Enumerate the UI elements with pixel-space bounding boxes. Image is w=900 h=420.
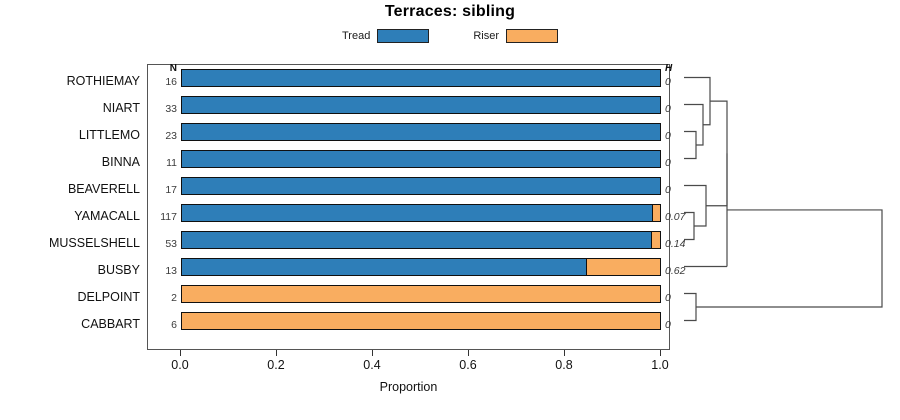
n-value: 23 — [148, 130, 177, 142]
row-label: ROTHIEMAY — [0, 74, 140, 88]
table-row: 330 — [148, 92, 669, 119]
n-value: 2 — [148, 292, 177, 304]
x-tick — [372, 350, 373, 356]
row-label: MUSSELSHELL — [0, 236, 140, 250]
bar-segment-riser — [586, 259, 660, 275]
stacked-bar — [181, 258, 661, 276]
dendrogram-svg — [670, 64, 900, 350]
stacked-bar — [181, 150, 661, 168]
x-tick-label: 0.4 — [347, 358, 397, 372]
dendro-join-delpoint-cabbart — [684, 294, 696, 321]
stacked-bar — [181, 69, 661, 87]
x-tick-label: 0.0 — [155, 358, 205, 372]
stacked-bar — [181, 231, 661, 249]
x-tick — [660, 350, 661, 356]
table-row: 170 — [148, 173, 669, 200]
bar-segment-riser — [651, 232, 660, 248]
chart-legend: Tread Riser — [0, 29, 900, 43]
table-row: 1170.07 — [148, 200, 669, 227]
dendro-join-yamacall-musselshell — [684, 213, 694, 240]
table-row: 130.62 — [148, 254, 669, 281]
row-label: LITTLEMO — [0, 128, 140, 142]
table-row: 60 — [148, 308, 669, 335]
plot-panel: N H 1603302301101701170.07530.14130.6220… — [147, 64, 670, 350]
x-axis-label: Proportion — [147, 380, 670, 394]
n-value: 117 — [148, 211, 177, 223]
legend-swatch-tread — [377, 29, 429, 43]
table-row: 110 — [148, 146, 669, 173]
dendro-join-upper-clusters — [706, 101, 727, 206]
table-row: 230 — [148, 119, 669, 146]
bar-segment-tread — [182, 178, 660, 194]
x-tick — [180, 350, 181, 356]
bar-segment-tread — [182, 205, 652, 221]
stacked-bar — [181, 204, 661, 222]
bar-segment-tread — [182, 124, 660, 140]
bar-segment-tread — [182, 151, 660, 167]
dendrogram-links — [684, 78, 882, 321]
stacked-bar — [181, 96, 661, 114]
stacked-bar — [181, 312, 661, 330]
x-tick — [564, 350, 565, 356]
chart-title: Terraces: sibling — [0, 3, 900, 21]
bar-segment-riser — [182, 313, 660, 329]
legend-swatch-riser — [506, 29, 558, 43]
dendro-join-rothiemay-cluster — [684, 78, 710, 125]
row-label: BINNA — [0, 155, 140, 169]
n-value: 13 — [148, 265, 177, 277]
n-value: 17 — [148, 184, 177, 196]
x-tick — [468, 350, 469, 356]
n-value: 16 — [148, 76, 177, 88]
row-label: YAMACALL — [0, 209, 140, 223]
dendro-join-niart-cluster — [684, 105, 703, 146]
legend-label-riser: Riser — [473, 30, 499, 42]
x-tick-label: 0.8 — [539, 358, 589, 372]
dendro-join-littlemo-binna — [684, 132, 696, 159]
n-value: 11 — [148, 157, 177, 169]
legend-item-tread: Tread — [342, 29, 429, 43]
row-label: DELPOINT — [0, 290, 140, 304]
bar-segment-tread — [182, 259, 586, 275]
n-value: 53 — [148, 238, 177, 250]
stacked-bar — [181, 285, 661, 303]
bar-segment-tread — [182, 232, 651, 248]
row-label: BUSBY — [0, 263, 140, 277]
bar-segment-tread — [182, 70, 660, 86]
x-tick-label: 0.6 — [443, 358, 493, 372]
chart-root: Terraces: sibling Tread Riser ROTHIEMAYN… — [0, 0, 900, 420]
x-tick — [276, 350, 277, 356]
bar-segment-riser — [182, 286, 660, 302]
table-row: 20 — [148, 281, 669, 308]
legend-label-tread: Tread — [342, 30, 370, 42]
stacked-bar — [181, 177, 661, 195]
n-value: 33 — [148, 103, 177, 115]
row-label: BEAVERELL — [0, 182, 140, 196]
table-row: 530.14 — [148, 227, 669, 254]
bar-segment-riser — [652, 205, 660, 221]
dendro-root-join — [696, 210, 882, 307]
bar-segment-tread — [182, 97, 660, 113]
legend-item-riser: Riser — [473, 29, 558, 43]
stacked-bar — [181, 123, 661, 141]
n-value: 6 — [148, 319, 177, 331]
row-label: CABBART — [0, 317, 140, 331]
row-label: NIART — [0, 101, 140, 115]
x-tick-label: 0.2 — [251, 358, 301, 372]
dendrogram — [670, 64, 900, 350]
table-row: 160 — [148, 65, 669, 92]
dendro-join-beaverell-cluster — [684, 186, 706, 227]
x-tick-label: 1.0 — [635, 358, 685, 372]
